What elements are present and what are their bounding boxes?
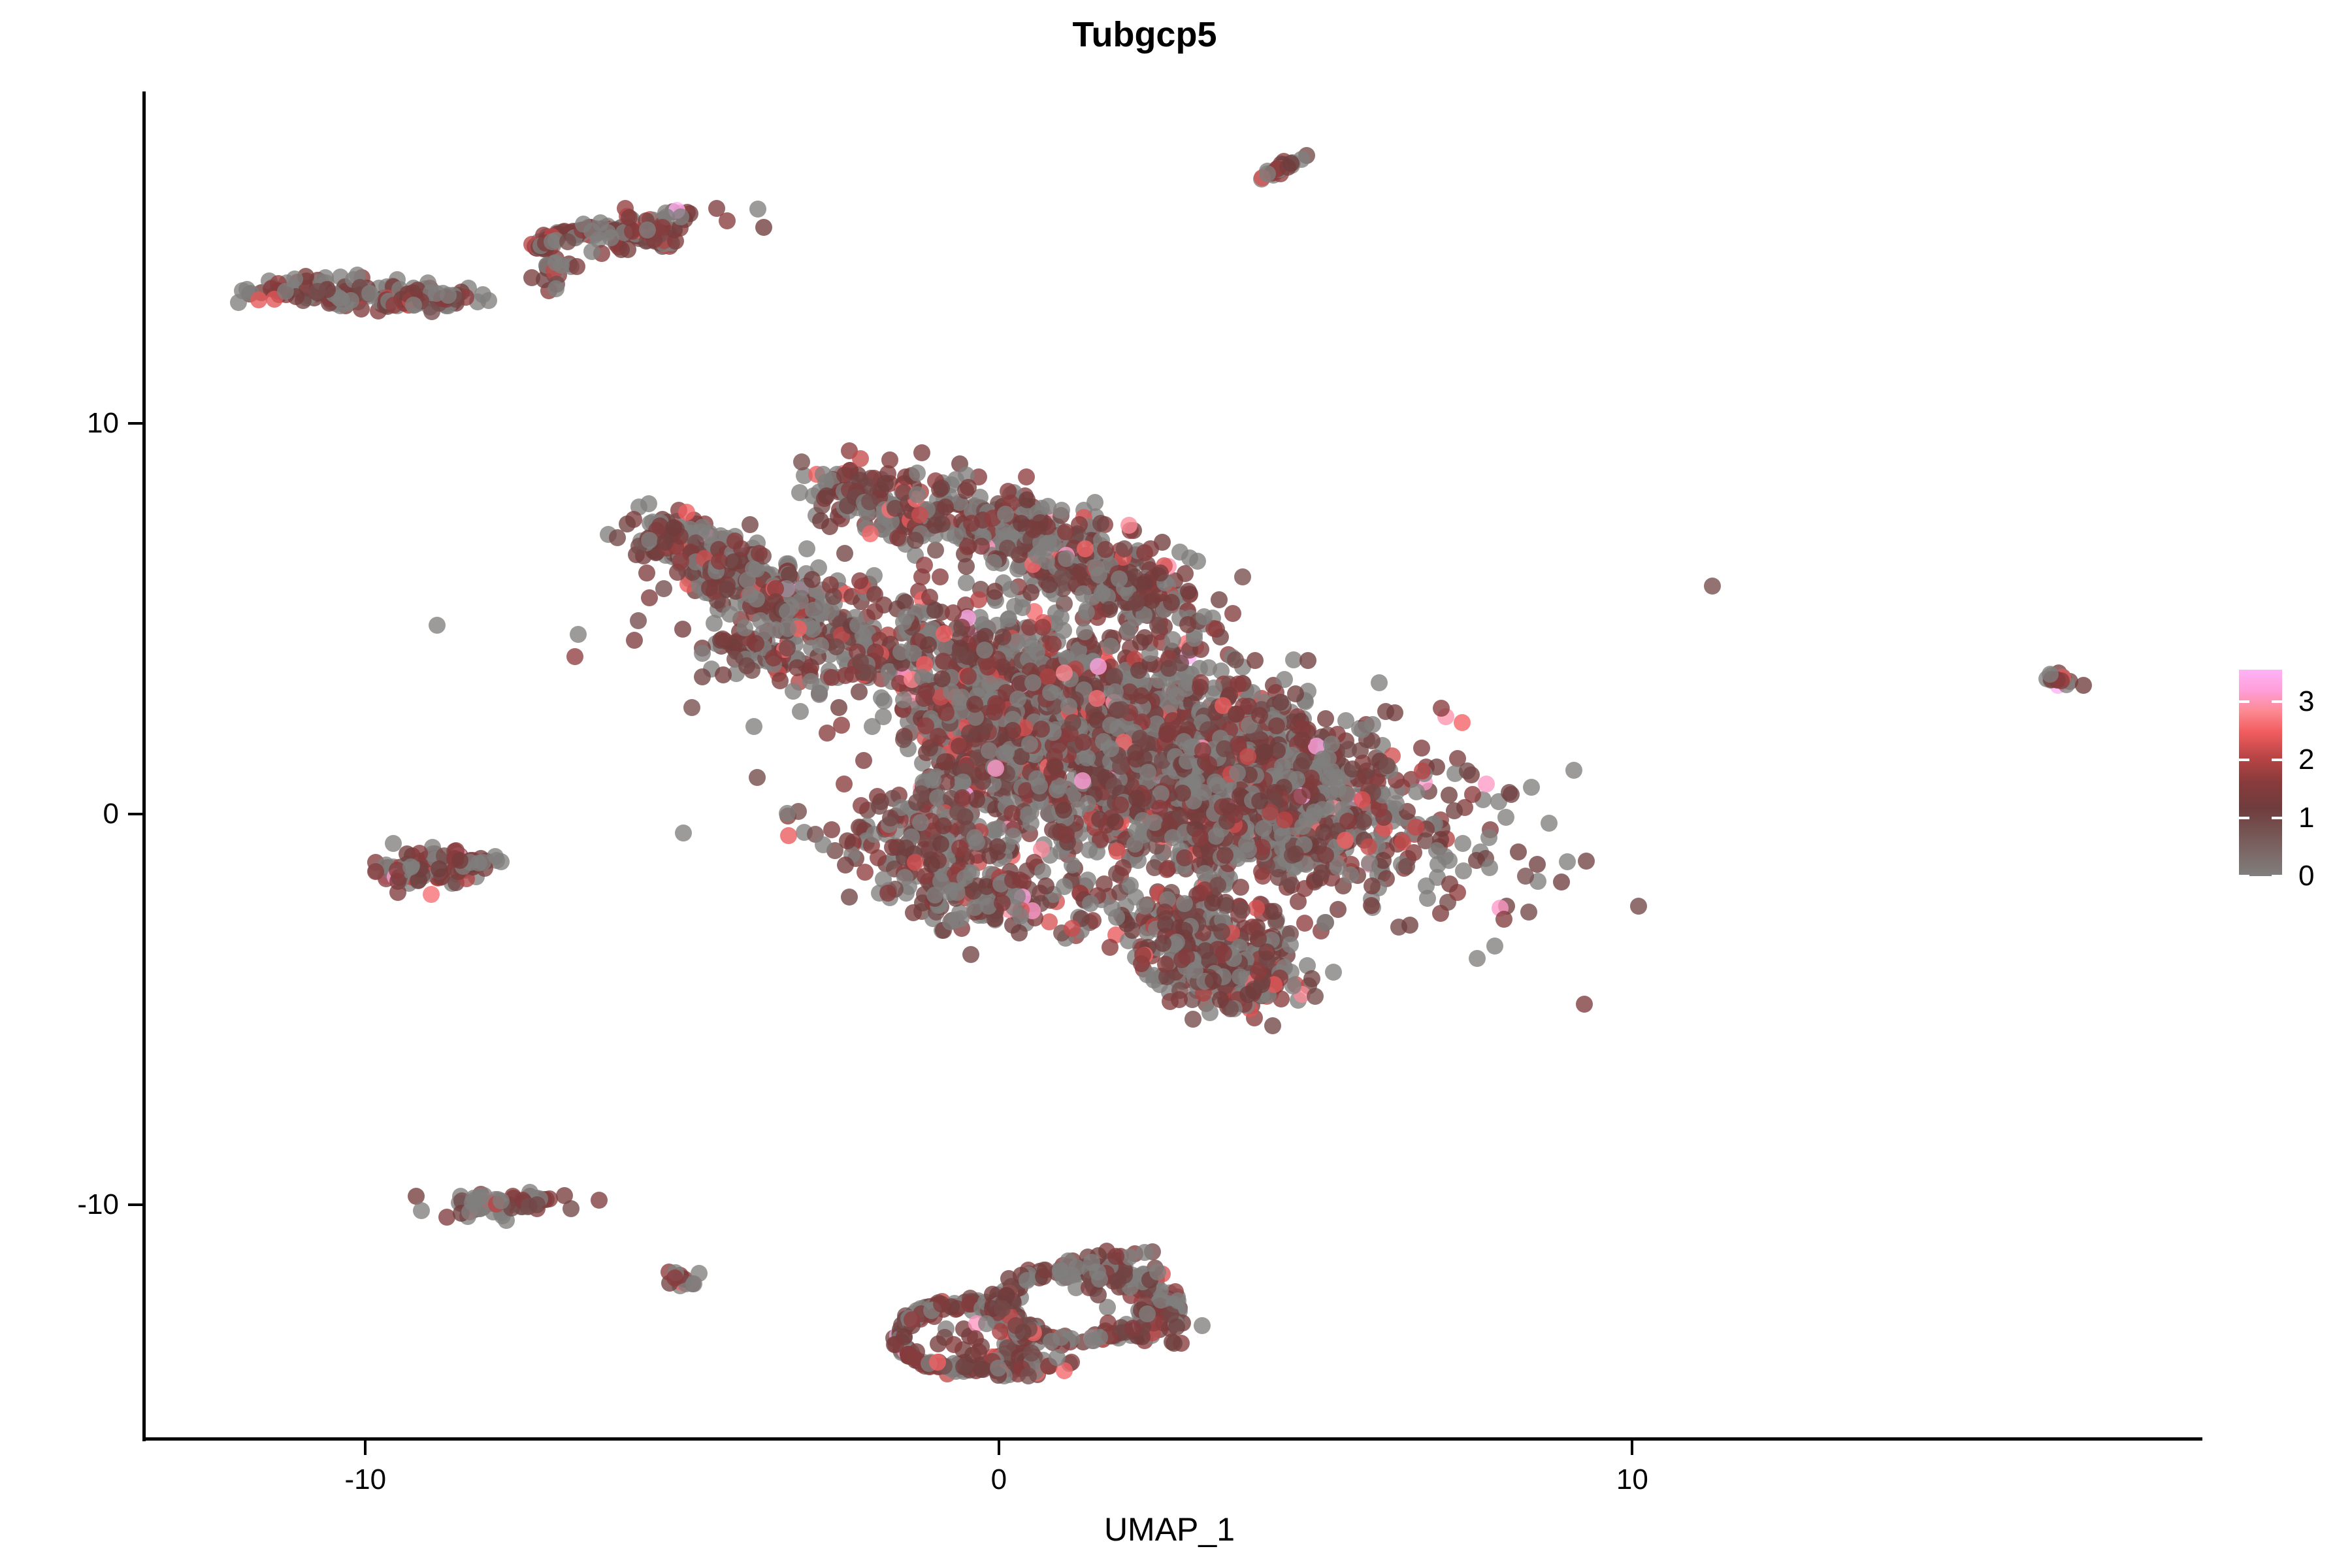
scatter-point bbox=[805, 602, 822, 619]
scatter-point bbox=[402, 858, 419, 875]
scatter-point bbox=[823, 669, 840, 686]
scatter-point bbox=[1446, 802, 1463, 819]
scatter-point bbox=[1296, 752, 1313, 769]
scatter-point bbox=[1127, 744, 1144, 761]
scatter-point bbox=[1441, 787, 1458, 804]
scatter-point bbox=[772, 672, 789, 689]
scatter-point bbox=[927, 542, 944, 559]
scatter-point bbox=[861, 493, 878, 510]
scatter-point bbox=[833, 717, 850, 734]
scatter-point bbox=[792, 703, 809, 720]
scatter-point bbox=[937, 498, 954, 515]
scatter-point bbox=[250, 291, 267, 308]
scatter-point bbox=[839, 497, 856, 514]
scatter-point bbox=[1075, 585, 1092, 602]
scatter-point bbox=[981, 742, 998, 759]
scatter-point bbox=[1576, 996, 1593, 1013]
scatter-point bbox=[1029, 547, 1046, 564]
x-axis-title-text: UMAP_1 bbox=[1104, 1511, 1235, 1548]
scatter-point bbox=[793, 453, 810, 470]
scatter-point bbox=[641, 532, 658, 549]
scatter-point bbox=[804, 571, 821, 588]
scatter-point bbox=[1432, 905, 1449, 922]
scatter-point bbox=[961, 725, 978, 742]
scatter-point bbox=[701, 580, 718, 596]
scatter-point bbox=[1196, 608, 1213, 625]
scatter-point bbox=[1325, 964, 1342, 981]
scatter-point bbox=[721, 606, 738, 623]
scatter-point bbox=[913, 568, 930, 585]
scatter-point bbox=[818, 487, 835, 504]
scatter-point bbox=[1180, 583, 1197, 600]
plot-title-text: Tubgcp5 bbox=[1073, 14, 1217, 55]
scatter-point bbox=[1025, 521, 1042, 538]
scatter-point bbox=[566, 648, 583, 665]
scatter-point bbox=[1578, 853, 1595, 870]
scatter-point bbox=[1441, 875, 1458, 892]
scatter-point bbox=[1520, 904, 1537, 921]
scatter-point bbox=[960, 668, 977, 685]
scatter-point bbox=[547, 254, 564, 271]
scatter-point bbox=[1086, 494, 1103, 511]
scatter-point bbox=[672, 553, 689, 570]
scatter-point bbox=[367, 863, 384, 880]
scatter-point bbox=[1158, 861, 1175, 878]
scatter-point bbox=[559, 233, 576, 250]
scatter-point bbox=[1478, 776, 1495, 792]
scatter-point bbox=[1454, 835, 1471, 852]
scatter-point bbox=[987, 760, 1004, 777]
scatter-point bbox=[691, 1265, 708, 1282]
scatter-point bbox=[1355, 813, 1372, 830]
scatter-point bbox=[1290, 893, 1307, 910]
scatter-point bbox=[745, 561, 762, 578]
scatter-point bbox=[1363, 897, 1380, 914]
scatter-point bbox=[1503, 786, 1520, 803]
scatter-point bbox=[1152, 564, 1169, 581]
scatter-point bbox=[570, 626, 587, 643]
scatter-point bbox=[1264, 1017, 1281, 1034]
scatter-point bbox=[749, 769, 766, 786]
scatter-point bbox=[1630, 898, 1647, 915]
scatter-point bbox=[1164, 631, 1181, 648]
scatter-point bbox=[836, 466, 853, 483]
scatter-point bbox=[1296, 915, 1313, 932]
scatter-point bbox=[423, 303, 440, 320]
scatter-point bbox=[935, 653, 952, 670]
scatter-point bbox=[1028, 644, 1045, 661]
scatter-point bbox=[860, 664, 877, 681]
scatter-point bbox=[1039, 668, 1056, 685]
scatter-point bbox=[563, 1200, 580, 1217]
scatter-point bbox=[745, 718, 762, 735]
scatter-point bbox=[976, 642, 993, 659]
scatter-point bbox=[1276, 811, 1293, 828]
scatter-point bbox=[1379, 757, 1396, 774]
scatter-point bbox=[752, 612, 769, 629]
scatter-point bbox=[451, 852, 468, 869]
scatter-point bbox=[1224, 605, 1241, 622]
scatter-point bbox=[1019, 491, 1036, 508]
scatter-point bbox=[1045, 636, 1062, 653]
scatter-point bbox=[1394, 834, 1411, 851]
scatter-point bbox=[361, 285, 378, 302]
scatter-point bbox=[1553, 874, 1570, 890]
scatter-point bbox=[1039, 498, 1056, 515]
scatter-point bbox=[1254, 868, 1271, 885]
scatter-point bbox=[1294, 818, 1311, 835]
scatter-point bbox=[1058, 550, 1075, 567]
scatter-point bbox=[1299, 652, 1316, 669]
scatter-point bbox=[747, 635, 764, 652]
scatter-point bbox=[2075, 677, 2092, 694]
scatter-point bbox=[1092, 515, 1109, 532]
scatter-point bbox=[1377, 703, 1394, 720]
scatter-point bbox=[413, 1202, 430, 1219]
plot-title: Tubgcp5 bbox=[0, 14, 2352, 55]
scatter-point bbox=[1268, 717, 1285, 734]
scatter-point bbox=[755, 219, 772, 236]
scatter-point bbox=[1481, 859, 1498, 876]
scatter-point bbox=[405, 297, 422, 314]
scatter-point bbox=[997, 506, 1014, 523]
scatter-point bbox=[934, 670, 951, 687]
scatter-point bbox=[819, 725, 836, 742]
scatter-point bbox=[1565, 762, 1582, 779]
scatter-point bbox=[694, 645, 711, 662]
scatter-point bbox=[1075, 734, 1092, 751]
scatter-point bbox=[1055, 802, 1072, 819]
scatter-point bbox=[986, 704, 1003, 721]
scatter-point bbox=[1176, 849, 1193, 866]
y-tick-label: 0 bbox=[103, 798, 119, 830]
scatter-point bbox=[968, 791, 985, 808]
scatter-point bbox=[1107, 683, 1124, 700]
scatter-point bbox=[1287, 685, 1304, 702]
scatter-point bbox=[851, 683, 868, 700]
scatter-panel bbox=[144, 91, 2202, 1439]
scatter-point bbox=[1339, 786, 1356, 803]
scatter-point bbox=[1523, 779, 1540, 796]
scatter-point bbox=[1301, 782, 1318, 799]
scatter-point bbox=[1354, 791, 1371, 808]
scatter-point bbox=[998, 744, 1015, 761]
scatter-point bbox=[575, 216, 592, 233]
scatter-point bbox=[715, 666, 732, 683]
scatter-point bbox=[1143, 592, 1160, 609]
scatter-point bbox=[909, 465, 926, 482]
scatter-point bbox=[1219, 798, 1236, 815]
scatter-point bbox=[1047, 759, 1064, 776]
scatter-point bbox=[742, 516, 759, 533]
scatter-point bbox=[1024, 674, 1041, 691]
scatter-point bbox=[738, 657, 755, 674]
scatter-point bbox=[1128, 790, 1145, 807]
scatter-point bbox=[765, 649, 782, 666]
scatter-point bbox=[947, 527, 964, 544]
scatter-point bbox=[1408, 783, 1425, 800]
y-tick bbox=[128, 1203, 142, 1206]
x-tick-label: 10 bbox=[1616, 1463, 1648, 1496]
scatter-point bbox=[1054, 568, 1071, 585]
scatter-point bbox=[855, 752, 872, 769]
scatter-point bbox=[1077, 540, 1094, 557]
scatter-point bbox=[591, 1192, 608, 1209]
scatter-point bbox=[1317, 710, 1334, 727]
scatter-point bbox=[1239, 748, 1256, 765]
scatter-point bbox=[1002, 581, 1019, 598]
scatter-point bbox=[1133, 687, 1150, 704]
scatter-point bbox=[1510, 843, 1527, 860]
scatter-point bbox=[1000, 483, 1017, 500]
scatter-point bbox=[429, 617, 446, 634]
y-tick-label: -10 bbox=[77, 1188, 119, 1221]
scatter-point bbox=[995, 523, 1012, 540]
scatter-point bbox=[619, 241, 636, 258]
scatter-point bbox=[921, 740, 938, 757]
scatter-point bbox=[749, 201, 766, 218]
scatter-point bbox=[1009, 691, 1026, 708]
scatter-point bbox=[639, 221, 656, 238]
scatter-point bbox=[1269, 742, 1286, 759]
x-tick bbox=[998, 1441, 1000, 1455]
scatter-point bbox=[751, 545, 768, 562]
scatter-point bbox=[913, 444, 930, 461]
scatter-point bbox=[493, 853, 510, 870]
scatter-point bbox=[667, 233, 684, 250]
scatter-point bbox=[1559, 853, 1576, 870]
scatter-point bbox=[895, 691, 912, 708]
scatter-point bbox=[1177, 565, 1194, 582]
scatter-point bbox=[1207, 828, 1224, 845]
y-tick bbox=[128, 422, 142, 425]
scatter-point bbox=[678, 504, 695, 521]
scatter-point bbox=[626, 632, 643, 649]
scatter-point bbox=[1116, 540, 1133, 557]
scatter-point bbox=[1120, 621, 1137, 638]
scatter-point bbox=[1079, 795, 1096, 812]
scatter-point bbox=[1088, 690, 1105, 707]
scatter-point bbox=[881, 451, 898, 468]
scatter-point bbox=[423, 886, 440, 903]
scatter-point bbox=[1162, 683, 1179, 700]
scatter-point bbox=[1106, 668, 1123, 685]
scatter-point bbox=[958, 558, 975, 575]
scatter-point bbox=[471, 1188, 488, 1205]
scatter-point bbox=[812, 512, 829, 529]
scatter-point bbox=[277, 283, 294, 300]
scatter-point bbox=[547, 280, 564, 297]
scatter-point bbox=[1053, 609, 1070, 626]
scatter-point bbox=[1076, 623, 1093, 640]
scatter-point bbox=[640, 495, 657, 512]
y-tick bbox=[128, 813, 142, 815]
scatter-point bbox=[470, 855, 487, 872]
scatter-point bbox=[798, 540, 815, 557]
scatter-point bbox=[493, 1192, 510, 1209]
scatter-point bbox=[924, 772, 941, 789]
scatter-point bbox=[654, 219, 671, 236]
scatter-point bbox=[1081, 841, 1098, 858]
scatter-point bbox=[694, 668, 711, 685]
scatter-point bbox=[836, 545, 853, 562]
x-tick-label: -10 bbox=[345, 1463, 387, 1496]
scatter-point bbox=[1240, 841, 1257, 858]
scatter-point bbox=[875, 708, 892, 725]
scatter-point bbox=[926, 602, 943, 619]
scatter-point bbox=[1497, 809, 1514, 826]
scatter-point bbox=[1211, 591, 1228, 608]
x-tick bbox=[1631, 1441, 1633, 1455]
scatter-point bbox=[1337, 832, 1354, 849]
scatter-point bbox=[1158, 726, 1175, 743]
scatter-point bbox=[1247, 652, 1264, 669]
scatter-point bbox=[1495, 911, 1512, 928]
scatter-point bbox=[1398, 858, 1415, 875]
scatter-point bbox=[1078, 604, 1095, 621]
scatter-point bbox=[683, 699, 700, 716]
x-axis-title: UMAP_1 bbox=[0, 1511, 2352, 1548]
scatter-point bbox=[1316, 914, 1333, 931]
x-tick-label: 0 bbox=[991, 1463, 1007, 1496]
scatter-point bbox=[936, 753, 953, 770]
scatter-point bbox=[609, 529, 626, 546]
scatter-point bbox=[852, 450, 869, 467]
scatter-point bbox=[970, 591, 987, 608]
scatter-point bbox=[877, 475, 894, 492]
x-tick bbox=[364, 1441, 367, 1455]
scatter-point bbox=[1274, 827, 1291, 844]
scatter-point bbox=[1330, 901, 1347, 918]
scatter-point bbox=[431, 860, 448, 877]
scatter-point bbox=[706, 615, 723, 632]
scatter-point bbox=[1480, 829, 1497, 846]
scatter-point bbox=[932, 568, 949, 585]
scatter-point bbox=[973, 538, 990, 555]
scatter-point bbox=[1413, 740, 1430, 757]
scatter-point bbox=[1361, 855, 1378, 872]
scatter-point bbox=[915, 690, 932, 707]
scatter-point bbox=[862, 525, 879, 542]
scatter-point bbox=[2042, 666, 2059, 683]
scatter-point bbox=[1401, 917, 1418, 934]
scatter-point bbox=[342, 292, 359, 309]
scatter-point bbox=[1287, 845, 1304, 862]
scatter-point bbox=[655, 580, 672, 597]
scatter-point bbox=[638, 564, 655, 581]
umap-feature-plot: Tubgcp5 -10010100-10 UMAP_1 UMAP_2 3210 bbox=[0, 0, 2352, 1568]
scatter-point bbox=[1216, 740, 1233, 757]
y-tick-label: 10 bbox=[87, 407, 119, 440]
scatter-point bbox=[1209, 777, 1226, 794]
scatter-point bbox=[1419, 890, 1436, 907]
scatter-point bbox=[1018, 468, 1035, 485]
scatter-point bbox=[1171, 544, 1188, 561]
scatter-point bbox=[909, 486, 926, 503]
scatter-point bbox=[657, 534, 674, 551]
scatter-point bbox=[1113, 701, 1130, 718]
scatter-point bbox=[674, 621, 691, 638]
scatter-point bbox=[1136, 544, 1153, 561]
scatter-point bbox=[1094, 585, 1111, 602]
scatter-point bbox=[583, 243, 600, 260]
scatter-point bbox=[630, 612, 647, 629]
scatter-point bbox=[1469, 950, 1486, 967]
scatter-point bbox=[1022, 584, 1039, 601]
scatter-point bbox=[911, 506, 928, 523]
scatter-point bbox=[1192, 679, 1209, 696]
scatter-point bbox=[866, 586, 883, 603]
scatter-point bbox=[1255, 820, 1272, 837]
scatter-point bbox=[1120, 517, 1137, 534]
scatter-point bbox=[875, 693, 892, 710]
scatter-point bbox=[474, 286, 491, 303]
scatter-point bbox=[1541, 815, 1558, 832]
scatter-point bbox=[889, 529, 906, 546]
scatter-point bbox=[907, 532, 924, 549]
scatter-point bbox=[1234, 568, 1251, 585]
scatter-point bbox=[1122, 877, 1139, 894]
scatter-point bbox=[1486, 938, 1503, 955]
scatter-point bbox=[1021, 736, 1038, 753]
y-axis-title: UMAP_2 bbox=[0, 0, 39, 1568]
scatter-point bbox=[1251, 792, 1268, 809]
scatter-point bbox=[1192, 829, 1209, 846]
scatter-point bbox=[1102, 638, 1119, 655]
scatter-point bbox=[725, 553, 742, 570]
scatter-point bbox=[830, 699, 847, 716]
scatter-point bbox=[568, 258, 585, 275]
scatter-point bbox=[1344, 760, 1361, 777]
